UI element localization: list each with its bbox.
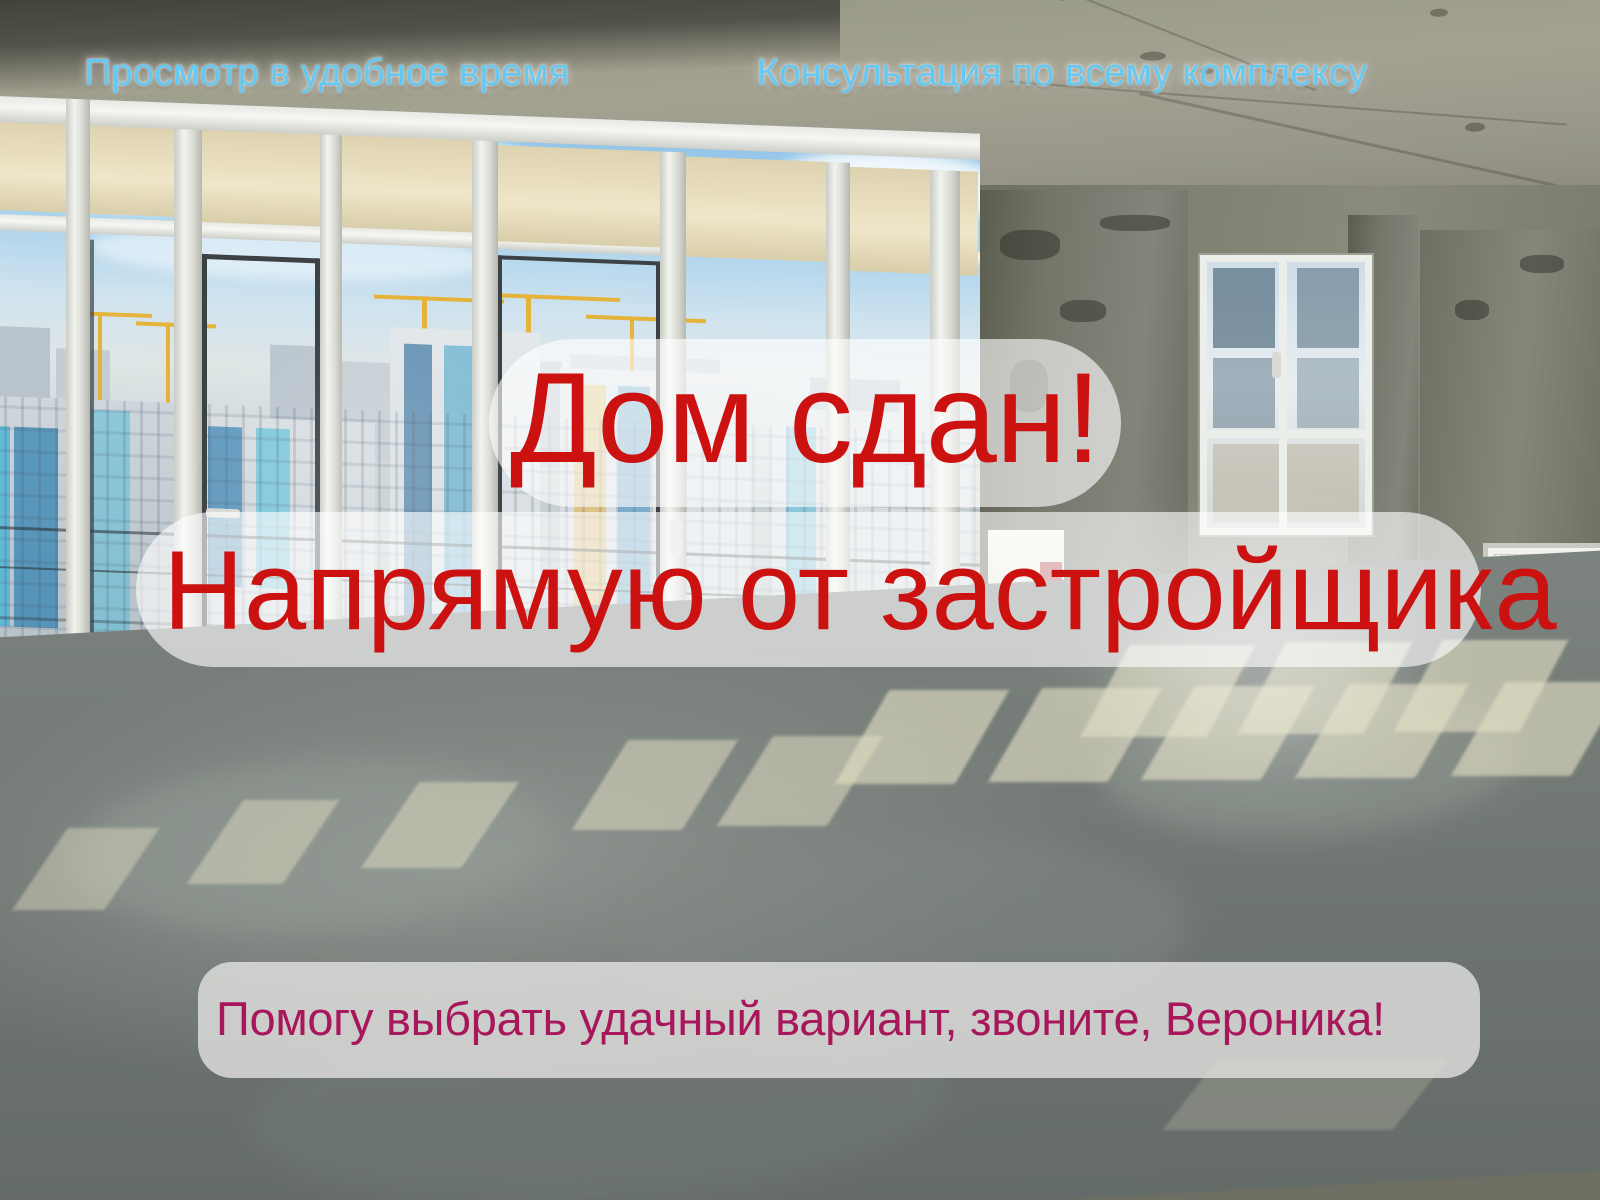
window-blind — [670, 156, 830, 262]
advertisement-image: Просмотр в удобное время Консультация по… — [0, 0, 1600, 1200]
footer-contact-text: Помогу выбрать удачный вариант, звоните,… — [216, 991, 1385, 1046]
window-blind — [482, 145, 662, 248]
header-text-left: Просмотр в удобное время — [84, 52, 569, 95]
headline-line-1: Дом сдан! — [510, 355, 1100, 483]
headline-line-2: Напрямую от застройщика — [163, 535, 1557, 647]
back-window-handle — [1272, 352, 1281, 378]
header-text-right: Консультация по всему комплексу — [757, 52, 1367, 95]
